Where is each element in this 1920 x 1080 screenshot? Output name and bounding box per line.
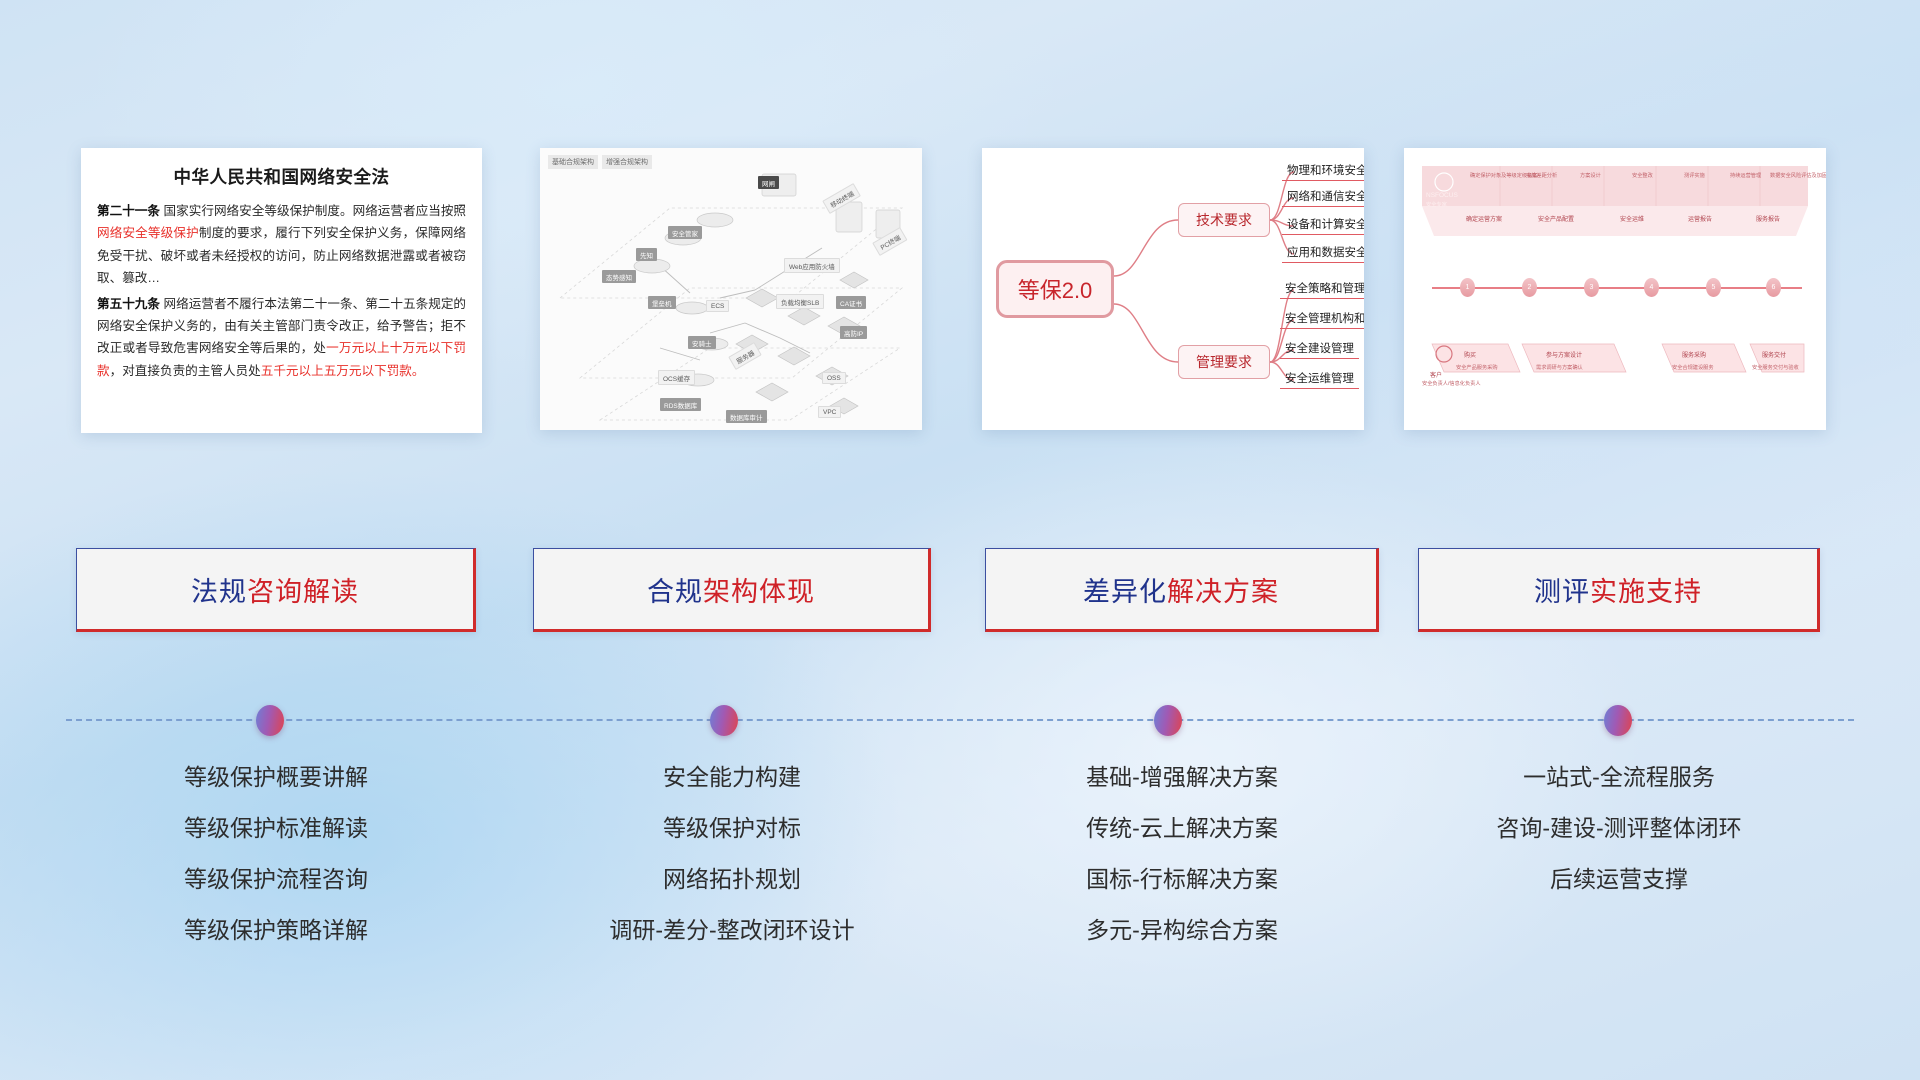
architecture-lines-icon [540, 148, 922, 430]
roadmap-step-2: 2 [1522, 278, 1537, 297]
mindmap-leaf-org: 安全管理机构和人员 [1280, 309, 1364, 329]
roadmap-stage-5: 服务报告 [1756, 214, 1780, 223]
node-label-slb: 负载均衡SLB [776, 294, 824, 309]
pill-label-3-blue: 差异化 [1083, 577, 1167, 607]
roadmap-footer-1: 购买 [1464, 350, 1476, 359]
tab-basic-architecture[interactable]: 基础合规架构 [548, 155, 598, 169]
article-59-highlight-2: 五千元以上五万元以下罚款。 [261, 364, 425, 378]
roadmap-step-3: 3 [1584, 278, 1599, 297]
list-item: 一站式-全流程服务 [1418, 752, 1820, 803]
roadmap-header-7: 数据安全风险评估及加固 [1770, 172, 1826, 179]
list-item: 国标-行标解决方案 [985, 854, 1379, 905]
node-label-situational-awareness: 态势感知 [602, 270, 636, 283]
roadmap-header-6: 持续运营管理 [1730, 172, 1761, 179]
detail-column-3: 基础-增强解决方案 传统-云上解决方案 国标-行标解决方案 多元-异构综合方案 [985, 752, 1379, 956]
pill-label-1-blue: 法规 [191, 577, 247, 607]
card-mindmap[interactable]: 等保2.0 技术要求 管理要求 物理和环境安全 网络和通信安全 设备和计算安全 … [982, 148, 1364, 430]
roadmap-step-5: 5 [1706, 278, 1721, 297]
list-item: 多元-异构综合方案 [985, 905, 1379, 956]
article-59-label: 第五十九条 [97, 297, 160, 311]
node-label-oss: OSS [822, 372, 846, 384]
roadmap-header-4: 安全整改 [1632, 172, 1653, 179]
card-roadmap[interactable]: NSFOCUS 安全专家 确定保护对象及等级定级备案 实施差距分析 方案设计 安… [1404, 148, 1826, 430]
node-label-anti-ddos: 高防IP [840, 326, 867, 339]
roadmap-footer-sub-3: 安全合规建设服务 [1672, 364, 1714, 371]
list-item: 等级保护标准解读 [76, 803, 476, 854]
card-architecture[interactable]: 基础合规架构 增强合规架构 网闸 安全管家 先知 态势感知 堡垒机 移动终端 W… [540, 148, 922, 430]
roadmap-footer-sub-2: 需求调研与方案确认 [1536, 364, 1583, 371]
roadmap-stage-4: 运营报告 [1688, 214, 1712, 223]
list-item: 后续运营支撑 [1418, 854, 1820, 905]
roadmap-footer-3: 服务采购 [1682, 350, 1706, 359]
pill-row: 法规咨询解读 合规架构体现 差异化解决方案 测评实施支持 [0, 548, 1920, 638]
roadmap-footer-2: 参与方案设计 [1546, 350, 1582, 359]
timeline-dot-1[interactable] [256, 705, 284, 736]
mindmap-leaf-physical: 物理和环境安全 [1282, 161, 1364, 181]
detail-column-4: 一站式-全流程服务 咨询-建设-测评整体闭环 后续运营支撑 [1418, 752, 1820, 905]
node-label-gateway: 网闸 [758, 176, 779, 189]
pill-label-2: 合规架构体现 [647, 570, 815, 609]
roadmap-header-2: 实施差距分析 [1526, 172, 1557, 179]
list-item: 安全能力构建 [533, 752, 931, 803]
roadmap-step-1: 1 [1460, 278, 1475, 297]
node-label-ecs: ECS [706, 300, 729, 312]
roadmap-stage-2: 安全产品配置 [1538, 214, 1574, 223]
node-label-bastion-host: 堡垒机 [648, 296, 676, 309]
node-label-ca-cert: CA证书 [836, 296, 866, 309]
pill-label-4: 测评实施支持 [1534, 570, 1702, 609]
node-label-ocs-cache: OCS缓存 [658, 370, 695, 385]
timeline [66, 700, 1854, 740]
roadmap-stage-1: 确定运营方案 [1466, 214, 1502, 223]
roadmap-footer-4: 服务交付 [1762, 350, 1786, 359]
list-item: 网络拓扑规划 [533, 854, 931, 905]
detail-list-row: 等级保护概要讲解 等级保护标准解读 等级保护流程咨询 等级保护策略详解 安全能力… [0, 752, 1920, 982]
pill-assessment-support[interactable]: 测评实施支持 [1418, 548, 1820, 632]
timeline-dot-2[interactable] [710, 705, 738, 736]
list-item: 等级保护概要讲解 [76, 752, 476, 803]
list-item: 咨询-建设-测评整体闭环 [1418, 803, 1820, 854]
timeline-dot-3[interactable] [1154, 705, 1182, 736]
roadmap-brand: NSFOCUS [1426, 192, 1458, 199]
timeline-dot-4[interactable] [1604, 705, 1632, 736]
node-label-vpc: VPC [818, 406, 841, 418]
mindmap-leaf-construction: 安全建设管理 [1280, 339, 1359, 359]
mindmap-branch-technical: 技术要求 [1178, 203, 1270, 237]
pill-differentiated-solution[interactable]: 差异化解决方案 [985, 548, 1379, 632]
card-row: 中华人民共和国网络安全法 第二十一条 国家实行网络安全等级保护制度。网络运营者应… [0, 148, 1920, 448]
node-label-db-audit: 数据库审计 [726, 410, 767, 423]
pill-label-2-red: 架构体现 [703, 577, 815, 607]
list-item: 等级保护对标 [533, 803, 931, 854]
node-label-xianzhi: 先知 [636, 248, 657, 261]
card-law[interactable]: 中华人民共和国网络安全法 第二十一条 国家实行网络安全等级保护制度。网络运营者应… [81, 148, 482, 433]
list-item: 传统-云上解决方案 [985, 803, 1379, 854]
node-label-rds: RDS数据库 [660, 398, 701, 411]
law-body: 中华人民共和国网络安全法 第二十一条 国家实行网络安全等级保护制度。网络运营者应… [81, 148, 482, 395]
roadmap-header-5: 测评实施 [1684, 172, 1705, 179]
article-21-label: 第二十一条 [97, 204, 160, 218]
roadmap-brand-sub: 安全专家 [1426, 201, 1447, 208]
roadmap-step-4: 4 [1644, 278, 1659, 297]
mindmap-leaf-policy: 安全策略和管理制度 [1280, 279, 1364, 299]
pill-label-4-red: 实施支持 [1590, 577, 1702, 607]
list-item: 等级保护策略详解 [76, 905, 476, 956]
law-title: 中华人民共和国网络安全法 [97, 164, 466, 189]
detail-column-1: 等级保护概要讲解 等级保护标准解读 等级保护流程咨询 等级保护策略详解 [76, 752, 476, 956]
roadmap-header-3: 方案设计 [1580, 172, 1601, 179]
mindmap-leaf-device: 设备和计算安全 [1282, 215, 1364, 235]
mindmap-diagram: 等保2.0 技术要求 管理要求 物理和环境安全 网络和通信安全 设备和计算安全 … [982, 148, 1364, 430]
mindmap-leaf-operation: 安全运维管理 [1280, 369, 1359, 389]
roadmap-footer-sub-1: 安全产品服务采购 [1456, 364, 1498, 371]
law-article-59: 第五十九条 网络运营者不履行本法第二十一条、第二十五条规定的网络安全保护义务的，… [97, 293, 466, 383]
mindmap-leaf-network: 网络和通信安全 [1282, 187, 1364, 207]
roadmap-diagram: NSFOCUS 安全专家 确定保护对象及等级定级备案 实施差距分析 方案设计 安… [1404, 148, 1826, 430]
pill-label-1: 法规咨询解读 [191, 570, 359, 609]
roadmap-step-6: 6 [1766, 278, 1781, 297]
mindmap-root: 等保2.0 [996, 260, 1114, 318]
slide-canvas: 中华人民共和国网络安全法 第二十一条 国家实行网络安全等级保护制度。网络运营者应… [0, 0, 1920, 1080]
node-label-security-steward: 安全管家 [668, 226, 702, 239]
roadmap-footer-sub-4: 安全服务交付与验收 [1752, 364, 1799, 371]
pill-regulation-consulting[interactable]: 法规咨询解读 [76, 548, 476, 632]
list-item: 等级保护流程咨询 [76, 854, 476, 905]
list-item: 基础-增强解决方案 [985, 752, 1379, 803]
pill-label-3: 差异化解决方案 [1083, 570, 1279, 609]
article-21-text-1: 国家实行网络安全等级保护制度。网络运营者应当按照 [160, 204, 466, 218]
detail-column-2: 安全能力构建 等级保护对标 网络拓扑规划 调研-差分-整改闭环设计 [533, 752, 931, 956]
pill-label-1-red: 咨询解读 [247, 577, 359, 607]
pill-compliance-architecture[interactable]: 合规架构体现 [533, 548, 931, 632]
architecture-diagram: 基础合规架构 增强合规架构 网闸 安全管家 先知 态势感知 堡垒机 移动终端 W… [540, 148, 922, 430]
article-21-highlight: 网络安全等级保护 [97, 226, 199, 240]
node-label-anqishi: 安骑士 [688, 336, 716, 349]
law-article-21: 第二十一条 国家实行网络安全等级保护制度。网络运营者应当按照网络安全等级保护制度… [97, 200, 466, 290]
article-59-text-2: ，对直接负责的主管人员处 [110, 364, 261, 378]
list-item: 调研-差分-整改闭环设计 [533, 905, 931, 956]
mindmap-branch-management: 管理要求 [1178, 345, 1270, 379]
roadmap-footer-role: 客户 [1430, 370, 1442, 379]
pill-label-2-blue: 合规 [647, 577, 703, 607]
roadmap-footer-role-sub: 安全负责人/信息化负责人 [1422, 380, 1481, 387]
timeline-line [66, 719, 1854, 721]
node-label-waf: Web应用防火墙 [784, 258, 840, 273]
tab-enhanced-architecture[interactable]: 增强合规架构 [602, 155, 652, 169]
pill-label-4-blue: 测评 [1534, 577, 1590, 607]
pill-label-3-red: 解决方案 [1167, 577, 1279, 607]
mindmap-leaf-application: 应用和数据安全 [1282, 243, 1364, 263]
roadmap-stage-3: 安全运维 [1620, 214, 1644, 223]
